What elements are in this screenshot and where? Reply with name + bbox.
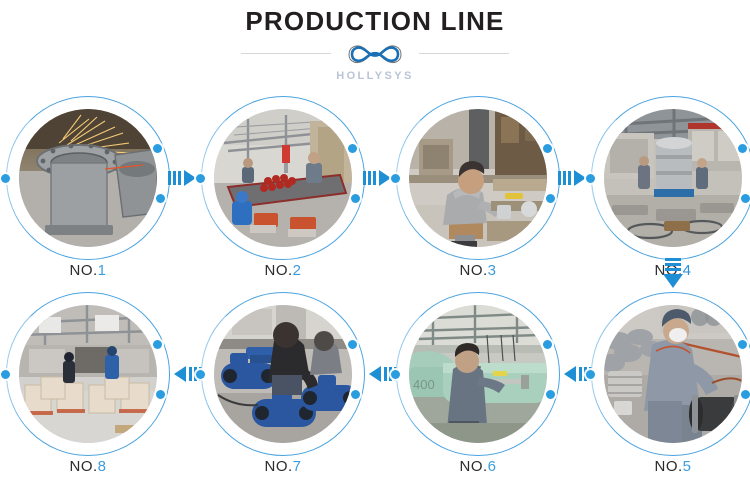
connector-dot-left bbox=[586, 174, 595, 183]
step-node-4[interactable]: NO.4 bbox=[591, 96, 750, 260]
step-node-1[interactable]: NO.1 bbox=[6, 96, 170, 260]
logo-row bbox=[0, 38, 750, 68]
step-label-3: NO.3 bbox=[396, 262, 560, 279]
step-label-6: NO.6 bbox=[396, 458, 560, 475]
steps-grid: NO.1 bbox=[0, 96, 750, 488]
step-label-1: NO.1 bbox=[6, 262, 170, 279]
step-label-2: NO.2 bbox=[201, 262, 365, 279]
step-photo-5 bbox=[604, 305, 742, 443]
connector-dot-right-upper bbox=[543, 144, 552, 153]
step-photo-7 bbox=[214, 305, 352, 443]
step-label-number-6: 6 bbox=[488, 458, 497, 475]
connector-dot-right-lower bbox=[156, 390, 165, 399]
step-node-5[interactable]: NO.5 bbox=[591, 292, 750, 456]
header: PRODUCTION LINE HOLLYSYS bbox=[0, 0, 750, 96]
step-photo-2 bbox=[214, 109, 352, 247]
step-node-8[interactable]: NO.8 bbox=[6, 292, 170, 456]
step-label-prefix-3: NO. bbox=[459, 262, 487, 279]
step-node-2[interactable]: NO.2 bbox=[201, 96, 365, 260]
step-photo-6: 400 bbox=[409, 305, 547, 443]
step-label-prefix-6: NO. bbox=[459, 458, 487, 475]
step-node-3[interactable]: NO.3 bbox=[396, 96, 560, 260]
connector-dot-left bbox=[196, 370, 205, 379]
step-label-number-8: 8 bbox=[98, 458, 107, 475]
connector-dot-right-lower bbox=[351, 194, 360, 203]
connector-dot-right-lower bbox=[156, 194, 165, 203]
step-photo-1 bbox=[19, 109, 157, 247]
connector-dot-right-upper bbox=[738, 144, 747, 153]
connector-dot-left bbox=[586, 370, 595, 379]
connector-dot-right-lower bbox=[546, 390, 555, 399]
connector-dot-left bbox=[1, 174, 10, 183]
divider-right bbox=[419, 53, 509, 54]
step-node-6[interactable]: 400 NO.6 bbox=[396, 292, 560, 456]
connector-dot-right-upper bbox=[348, 144, 357, 153]
infinity-logo-icon bbox=[339, 38, 411, 68]
connector-dot-left bbox=[1, 370, 10, 379]
step-label-prefix-7: NO. bbox=[264, 458, 292, 475]
step-label-7: NO.7 bbox=[201, 458, 365, 475]
divider-left bbox=[241, 53, 331, 54]
connector-dot-right-upper bbox=[153, 340, 162, 349]
step-label-5: NO.5 bbox=[591, 458, 750, 475]
connector-dot-left bbox=[196, 174, 205, 183]
step-label-number-7: 7 bbox=[293, 458, 302, 475]
production-line-infographic: PRODUCTION LINE HOLLYSYS bbox=[0, 0, 750, 488]
steps-row-bottom: NO.8 bbox=[0, 292, 750, 488]
step-label-prefix-8: NO. bbox=[69, 458, 97, 475]
connector-dot-left bbox=[391, 370, 400, 379]
step-label-prefix-5: NO. bbox=[654, 458, 682, 475]
connector-dot-right-upper bbox=[738, 340, 747, 349]
step-label-8: NO.8 bbox=[6, 458, 170, 475]
connector-dot-right-lower bbox=[546, 194, 555, 203]
step-label-prefix-1: NO. bbox=[69, 262, 97, 279]
brand-name: HOLLYSYS bbox=[0, 70, 750, 82]
connector-dot-right-lower bbox=[741, 390, 750, 399]
step-label-number-2: 2 bbox=[293, 262, 302, 279]
connector-dot-left bbox=[391, 174, 400, 183]
connector-dot-right-lower bbox=[351, 390, 360, 399]
connector-dot-right-upper bbox=[348, 340, 357, 349]
step-photo-8 bbox=[19, 305, 157, 443]
connector-dot-right-lower bbox=[741, 194, 750, 203]
step-label-number-1: 1 bbox=[98, 262, 107, 279]
connector-dot-right-upper bbox=[153, 144, 162, 153]
svg-text:400: 400 bbox=[413, 377, 435, 392]
steps-row-top: NO.1 bbox=[0, 96, 750, 292]
arrow-down-icon bbox=[662, 258, 684, 292]
step-node-7[interactable]: NO.7 bbox=[201, 292, 365, 456]
step-photo-3 bbox=[409, 109, 547, 247]
step-label-prefix-2: NO. bbox=[264, 262, 292, 279]
step-label-number-3: 3 bbox=[488, 262, 497, 279]
step-label-number-5: 5 bbox=[683, 458, 692, 475]
connector-dot-right-upper bbox=[543, 340, 552, 349]
page-title: PRODUCTION LINE bbox=[0, 6, 750, 36]
step-photo-4 bbox=[604, 109, 742, 247]
